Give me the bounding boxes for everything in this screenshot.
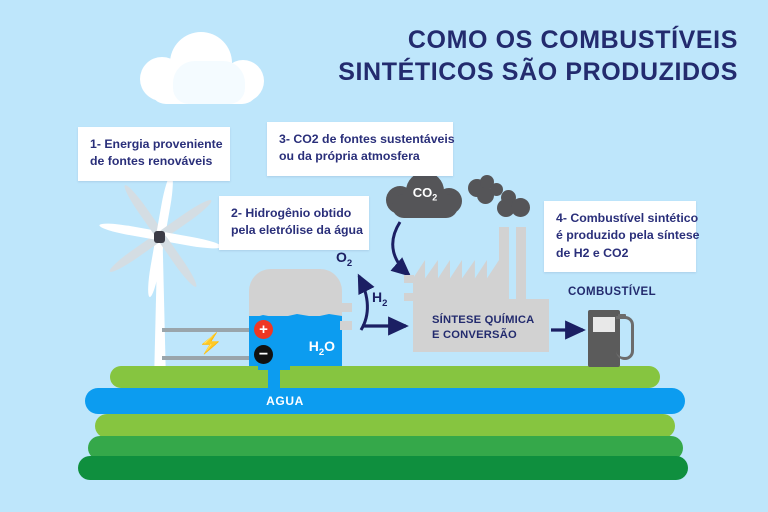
callout-4-line-2: é produzido pela síntese — [556, 227, 684, 244]
fuel-label: COMBUSTÍVEL — [556, 286, 668, 298]
callout-1-line-1: 1- Energia proveniente — [90, 136, 218, 153]
page-title: COMO OS COMBUSTÍVEIS SINTÉTICOS SÃO PROD… — [338, 24, 738, 88]
cloud-inner-shade — [173, 61, 245, 104]
ground-band-grass-dark — [78, 456, 688, 480]
oxygen-symbol: O — [336, 249, 347, 265]
cathode-negative-electrode: − — [254, 345, 273, 364]
lightning-bolt-icon: ⚡ — [198, 334, 223, 354]
factory-label-line-2: E CONVERSÃO — [432, 328, 548, 343]
callout-2-line-2: pela eletrólise da água — [231, 222, 357, 239]
fuel-pump-icon — [588, 310, 636, 367]
water-band-label: ÁGUA — [85, 388, 485, 414]
co2-cloud-icon: CO2 — [386, 172, 464, 220]
turbine-hub — [154, 231, 165, 243]
callout-step-1: 1- Energia proveniente de fontes renováv… — [78, 127, 230, 181]
tank-water-formula: H2O — [309, 338, 335, 358]
oxygen-arrow — [359, 276, 367, 330]
callout-4-line-1: 4- Combustível sintético — [556, 210, 684, 227]
hydrogen-sub: 2 — [382, 298, 387, 309]
synthesis-factory: SÍNTESE QUÍMICA E CONVERSÃO — [413, 227, 549, 352]
formula-o: O — [324, 338, 335, 354]
callout-step-4: 4- Combustível sintético é produzido pel… — [544, 201, 696, 272]
factory-chimney — [516, 227, 526, 299]
formula-h: H — [309, 338, 319, 354]
anode-positive-electrode: + — [254, 320, 273, 339]
hydrogen-symbol: H — [372, 289, 382, 305]
callout-step-3: 3- CO2 de fontes sustentáveis ou da próp… — [267, 122, 453, 176]
callout-3-line-2: ou da própria atmosfera — [279, 148, 441, 165]
callout-3-line-1: 3- CO2 de fontes sustentáveis — [279, 131, 441, 148]
ground-band-grass-top — [110, 366, 660, 388]
co2-symbol: CO — [413, 185, 433, 200]
smoke-bubble — [511, 198, 530, 217]
infographic-canvas: COMO OS COMBUSTÍVEIS SINTÉTICOS SÃO PROD… — [0, 0, 768, 512]
factory-inlet-lower — [404, 293, 414, 301]
pump-hose — [616, 316, 634, 360]
co2-arrow — [393, 222, 409, 275]
factory-chimney — [499, 227, 509, 299]
factory-label: SÍNTESE QUÍMICA E CONVERSÃO — [432, 313, 548, 343]
callout-4-line-3: de H2 e CO2 — [556, 245, 684, 262]
page-title-line-1: COMO OS COMBUSTÍVEIS — [338, 24, 738, 56]
callout-2-line-1: 2- Hidrogênio obtido — [231, 205, 357, 222]
oxygen-label: O2 — [336, 250, 352, 268]
callout-step-2: 2- Hidrogênio obtido pela eletrólise da … — [219, 196, 369, 250]
pump-display — [593, 317, 615, 332]
callout-1-line-2: de fontes renováveis — [90, 153, 218, 170]
hydrogen-label: H2 — [372, 290, 387, 308]
factory-label-line-1: SÍNTESE QUÍMICA — [432, 313, 548, 328]
co2-sub: 2 — [432, 193, 437, 203]
smoke-puff-cluster — [497, 190, 531, 218]
tank-outlet-lower — [340, 321, 352, 330]
sky-cloud-icon — [140, 32, 268, 104]
pump-nozzle — [618, 314, 626, 319]
oxygen-sub: 2 — [347, 258, 352, 269]
page-title-line-2: SINTÉTICOS SÃO PRODUZIDOS — [338, 56, 738, 88]
tank-outlet-upper — [340, 303, 352, 312]
co2-cloud-label: CO2 — [386, 186, 464, 203]
factory-inlet-upper — [404, 275, 414, 283]
ground-band-grass-light — [95, 414, 675, 438]
